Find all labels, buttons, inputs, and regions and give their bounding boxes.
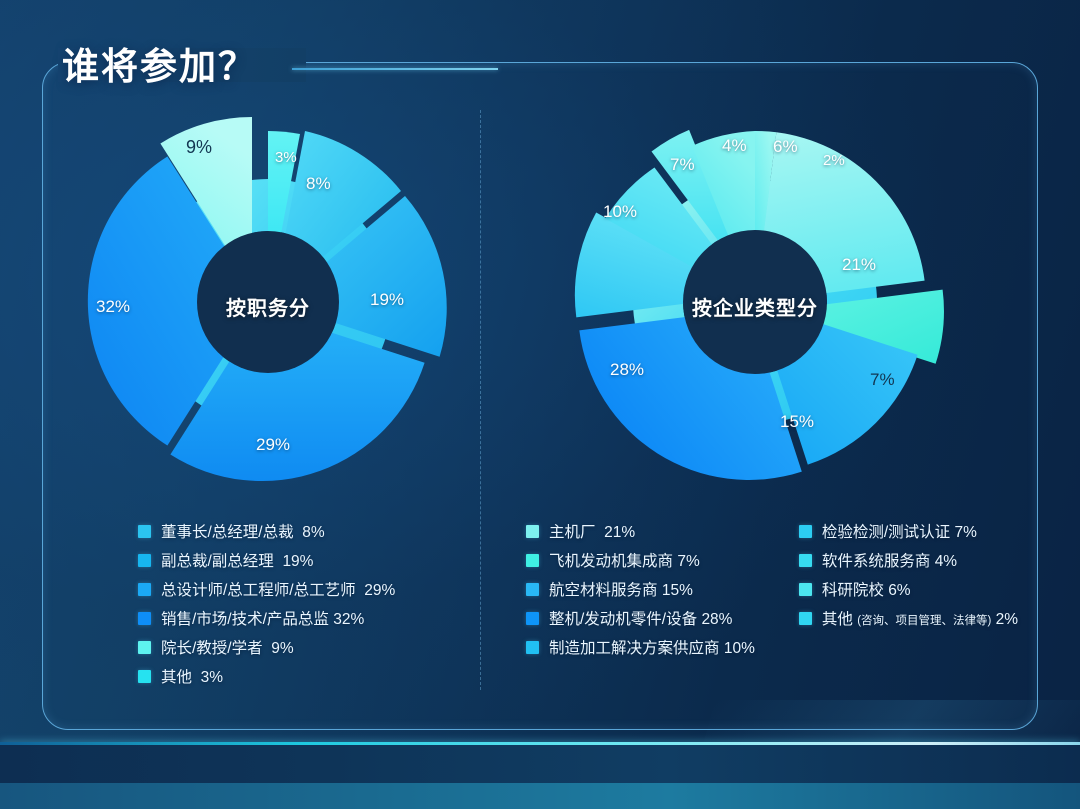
legend-item[interactable]: 董事长/总经理/总裁 8% [138, 518, 395, 544]
title-underline [292, 68, 498, 70]
legend-label: 主机厂 21% [549, 520, 635, 542]
legend-swatch-icon [799, 554, 812, 567]
legend-column-2: 检验检测/测试认证 7% 软件系统服务商 4% 科研院校 6% 其他 (咨询、项… [799, 518, 1018, 663]
legend-label: 科研院校 6% [822, 578, 911, 600]
legend-swatch-icon [799, 612, 812, 625]
legend-label: 制造加工解决方案供应商 10% [549, 636, 755, 658]
legend-item[interactable]: 检验检测/测试认证 7% [799, 518, 1018, 544]
legend-item[interactable]: 软件系统服务商 4% [799, 547, 1018, 573]
legend-column-1: 主机厂 21% 飞机发动机集成商 7% 航空材料服务商 15% 整机/发动机零件… [526, 518, 755, 663]
legend-item[interactable]: 飞机发动机集成商 7% [526, 547, 755, 573]
legend-swatch-icon [526, 583, 539, 596]
legend-item[interactable]: 航空材料服务商 15% [526, 576, 755, 602]
legend-by-company-type: 主机厂 21% 飞机发动机集成商 7% 航空材料服务商 15% 整机/发动机零件… [526, 518, 1018, 663]
legend-item[interactable]: 其他 3% [138, 663, 395, 689]
legend-label: 董事长/总经理/总裁 8% [161, 520, 325, 542]
legend-swatch-icon [526, 525, 539, 538]
legend-label: 航空材料服务商 15% [549, 578, 693, 600]
legend-item[interactable]: 销售/市场/技术/产品总监 32% [138, 605, 395, 631]
legend-by-position: 董事长/总经理/总裁 8% 副总裁/副总经理 19% 总设计师/总工程师/总工艺… [138, 518, 395, 692]
decor-band-upper [0, 745, 1080, 783]
legend-label: 总设计师/总工程师/总工艺师 29% [161, 578, 395, 600]
donut-svg-right [560, 112, 960, 492]
legend-label: 整机/发动机零件/设备 28% [549, 607, 732, 629]
legend-item[interactable]: 其他 (咨询、项目管理、法律等) 2% [799, 605, 1018, 631]
section-divider [480, 110, 481, 690]
chart-panel-by-position: 按职务分 9% 3% 8% 19% 29% 32% [78, 112, 458, 492]
legend-swatch-icon [138, 583, 151, 596]
legend-label: 飞机发动机集成商 7% [549, 549, 700, 571]
legend-label: 院长/教授/学者 9% [161, 636, 294, 658]
donut-chart-by-company-type: 按企业类型分 4% 6% 2% 7% 10% 21% 7% 15% 28% [560, 112, 980, 492]
donut-svg-left [78, 112, 458, 492]
legend-label: 其他 (咨询、项目管理、法律等) 2% [822, 607, 1018, 629]
legend-swatch-icon [138, 554, 151, 567]
legend-swatch-icon [138, 525, 151, 538]
donut-chart-by-position: 按职务分 9% 3% 8% 19% 29% 32% [78, 112, 458, 492]
legend-label: 销售/市场/技术/产品总监 32% [161, 607, 364, 629]
infographic-canvas: 谁将参加？ [0, 0, 1080, 809]
chart-panel-by-company-type: 按企业类型分 4% 6% 2% 7% 10% 21% 7% 15% 28% [560, 112, 980, 492]
legend-swatch-icon [526, 612, 539, 625]
legend-swatch-icon [526, 554, 539, 567]
legend-label: 其他 3% [161, 665, 223, 687]
donut-hub-left [197, 231, 339, 373]
legend-swatch-icon [799, 525, 812, 538]
legend-label: 软件系统服务商 4% [822, 549, 957, 571]
legend-item[interactable]: 副总裁/副总经理 19% [138, 547, 395, 573]
legend-item[interactable]: 制造加工解决方案供应商 10% [526, 634, 755, 660]
legend-item[interactable]: 整机/发动机零件/设备 28% [526, 605, 755, 631]
page-title: 谁将参加？ [62, 36, 257, 90]
legend-label: 检验检测/测试认证 7% [822, 520, 977, 542]
legend-label: 副总裁/副总经理 19% [161, 549, 313, 571]
legend-item[interactable]: 总设计师/总工程师/总工艺师 29% [138, 576, 395, 602]
legend-item[interactable]: 科研院校 6% [799, 576, 1018, 602]
legend-item[interactable]: 院长/教授/学者 9% [138, 634, 395, 660]
legend-swatch-icon [138, 670, 151, 683]
legend-swatch-icon [138, 641, 151, 654]
donut-hub-right [683, 230, 827, 374]
legend-swatch-icon [799, 583, 812, 596]
legend-item[interactable]: 主机厂 21% [526, 518, 755, 544]
legend-swatch-icon [138, 612, 151, 625]
decor-band-lower [0, 783, 1080, 809]
legend-swatch-icon [526, 641, 539, 654]
